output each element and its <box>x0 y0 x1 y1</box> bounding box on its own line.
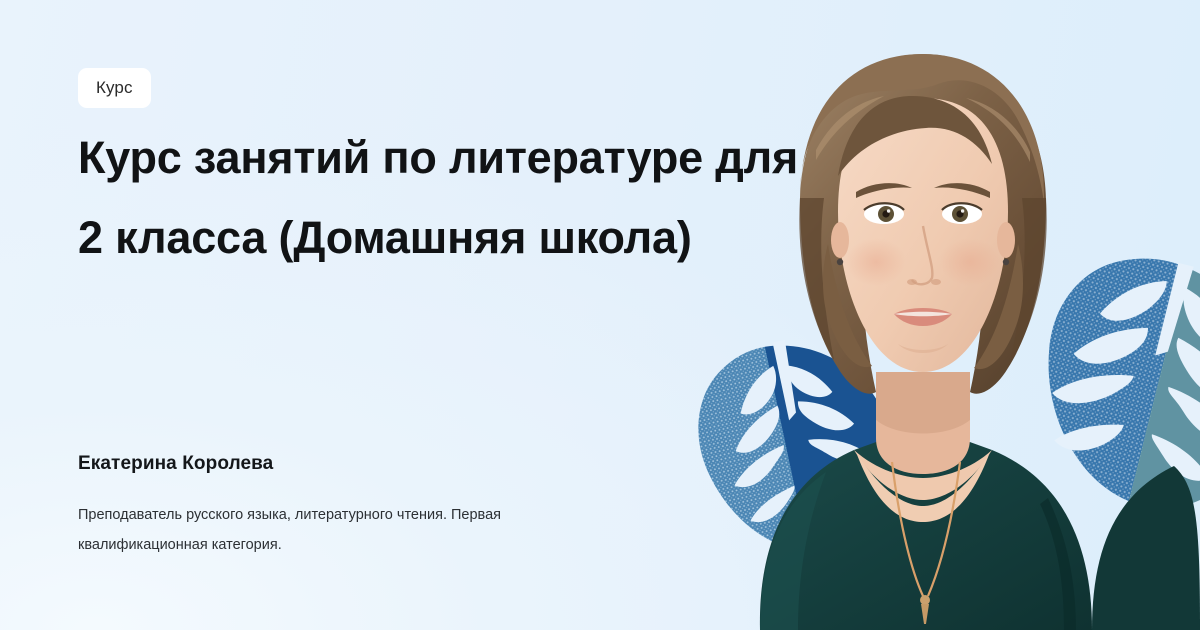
instructor-description: Преподаватель русского языка, литературн… <box>78 500 608 560</box>
instructor-name: Екатерина Королева <box>78 452 273 476</box>
page-title: Курс занятий по литературе для 2 класса … <box>78 118 838 278</box>
course-type-badge: Курс <box>78 68 151 108</box>
course-promo-card: Курс Курс занятий по литературе для 2 кл… <box>0 0 1200 630</box>
text-column: Курс Курс занятий по литературе для 2 кл… <box>78 0 848 630</box>
